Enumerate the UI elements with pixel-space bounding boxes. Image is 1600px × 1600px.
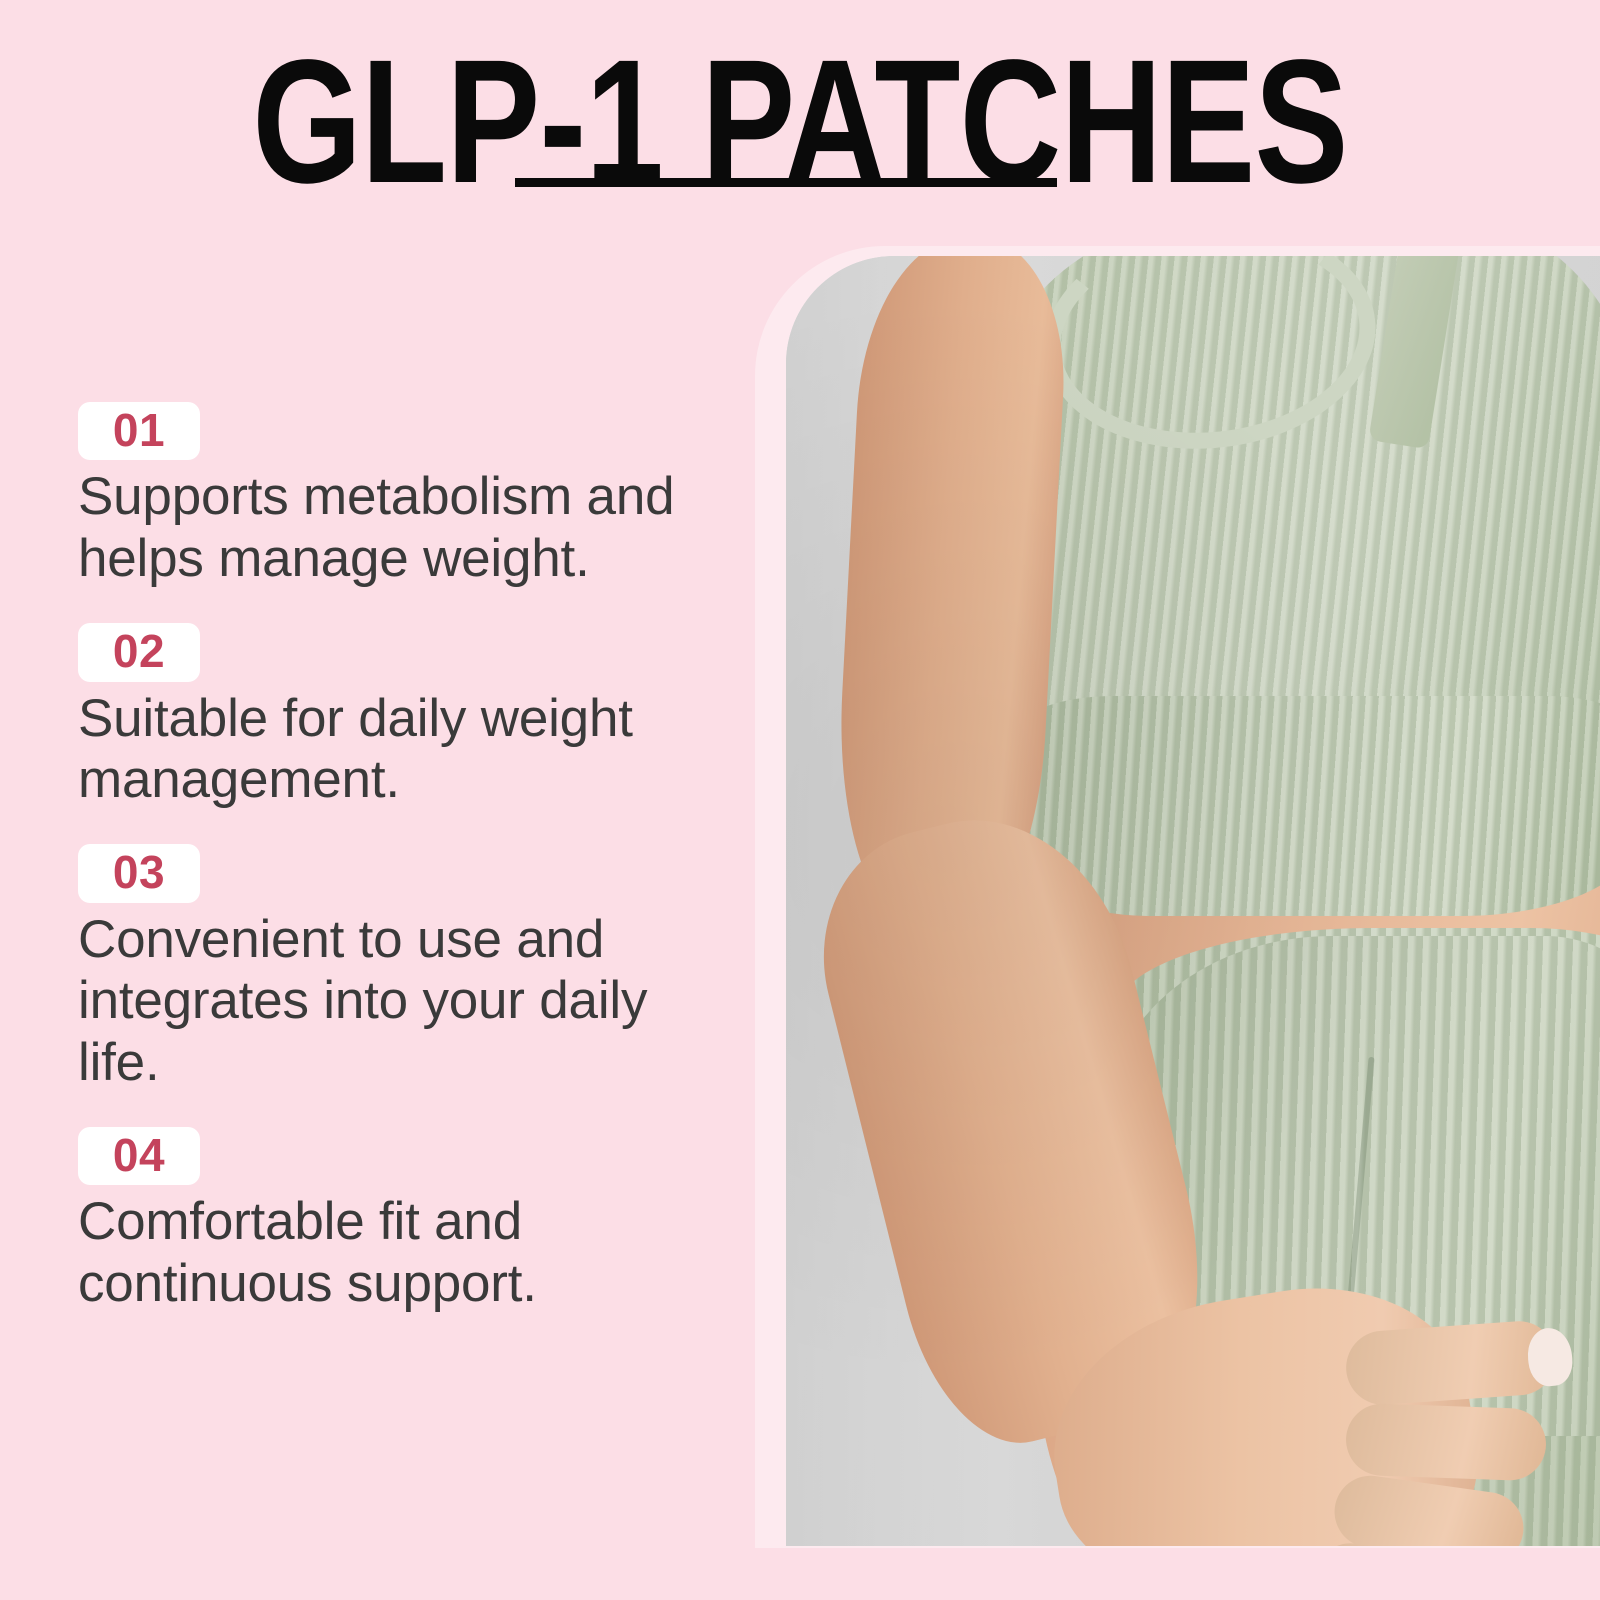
photo-backdrop bbox=[786, 256, 1600, 1546]
list-item: 03 Convenient to use and integrates into… bbox=[78, 844, 698, 1093]
title-underline-rule bbox=[515, 178, 1057, 187]
feature-number-badge: 04 bbox=[78, 1127, 200, 1185]
feature-number-badge: 01 bbox=[78, 402, 200, 460]
model-finger bbox=[1345, 1403, 1547, 1482]
crop-top-band bbox=[1014, 696, 1600, 916]
feature-number-badge: 03 bbox=[78, 844, 200, 902]
feature-description: Suitable for daily weight management. bbox=[78, 688, 678, 811]
model-finger bbox=[1344, 1319, 1559, 1407]
poster-canvas: GLP-1 PATCHES 01 Supports metabolism and… bbox=[0, 0, 1600, 1600]
feature-number-badge: 02 bbox=[78, 623, 200, 681]
product-photo bbox=[786, 256, 1600, 1546]
feature-description: Supports metabolism and helps manage wei… bbox=[78, 466, 678, 589]
list-item: 04 Comfortable fit and continuous suppor… bbox=[78, 1127, 698, 1314]
list-item: 01 Supports metabolism and helps manage … bbox=[78, 402, 698, 589]
list-item: 02 Suitable for daily weight management. bbox=[78, 623, 698, 810]
feature-description: Comfortable fit and continuous support. bbox=[78, 1191, 678, 1314]
feature-list: 01 Supports metabolism and helps manage … bbox=[78, 402, 698, 1314]
feature-description: Convenient to use and integrates into yo… bbox=[78, 909, 678, 1093]
